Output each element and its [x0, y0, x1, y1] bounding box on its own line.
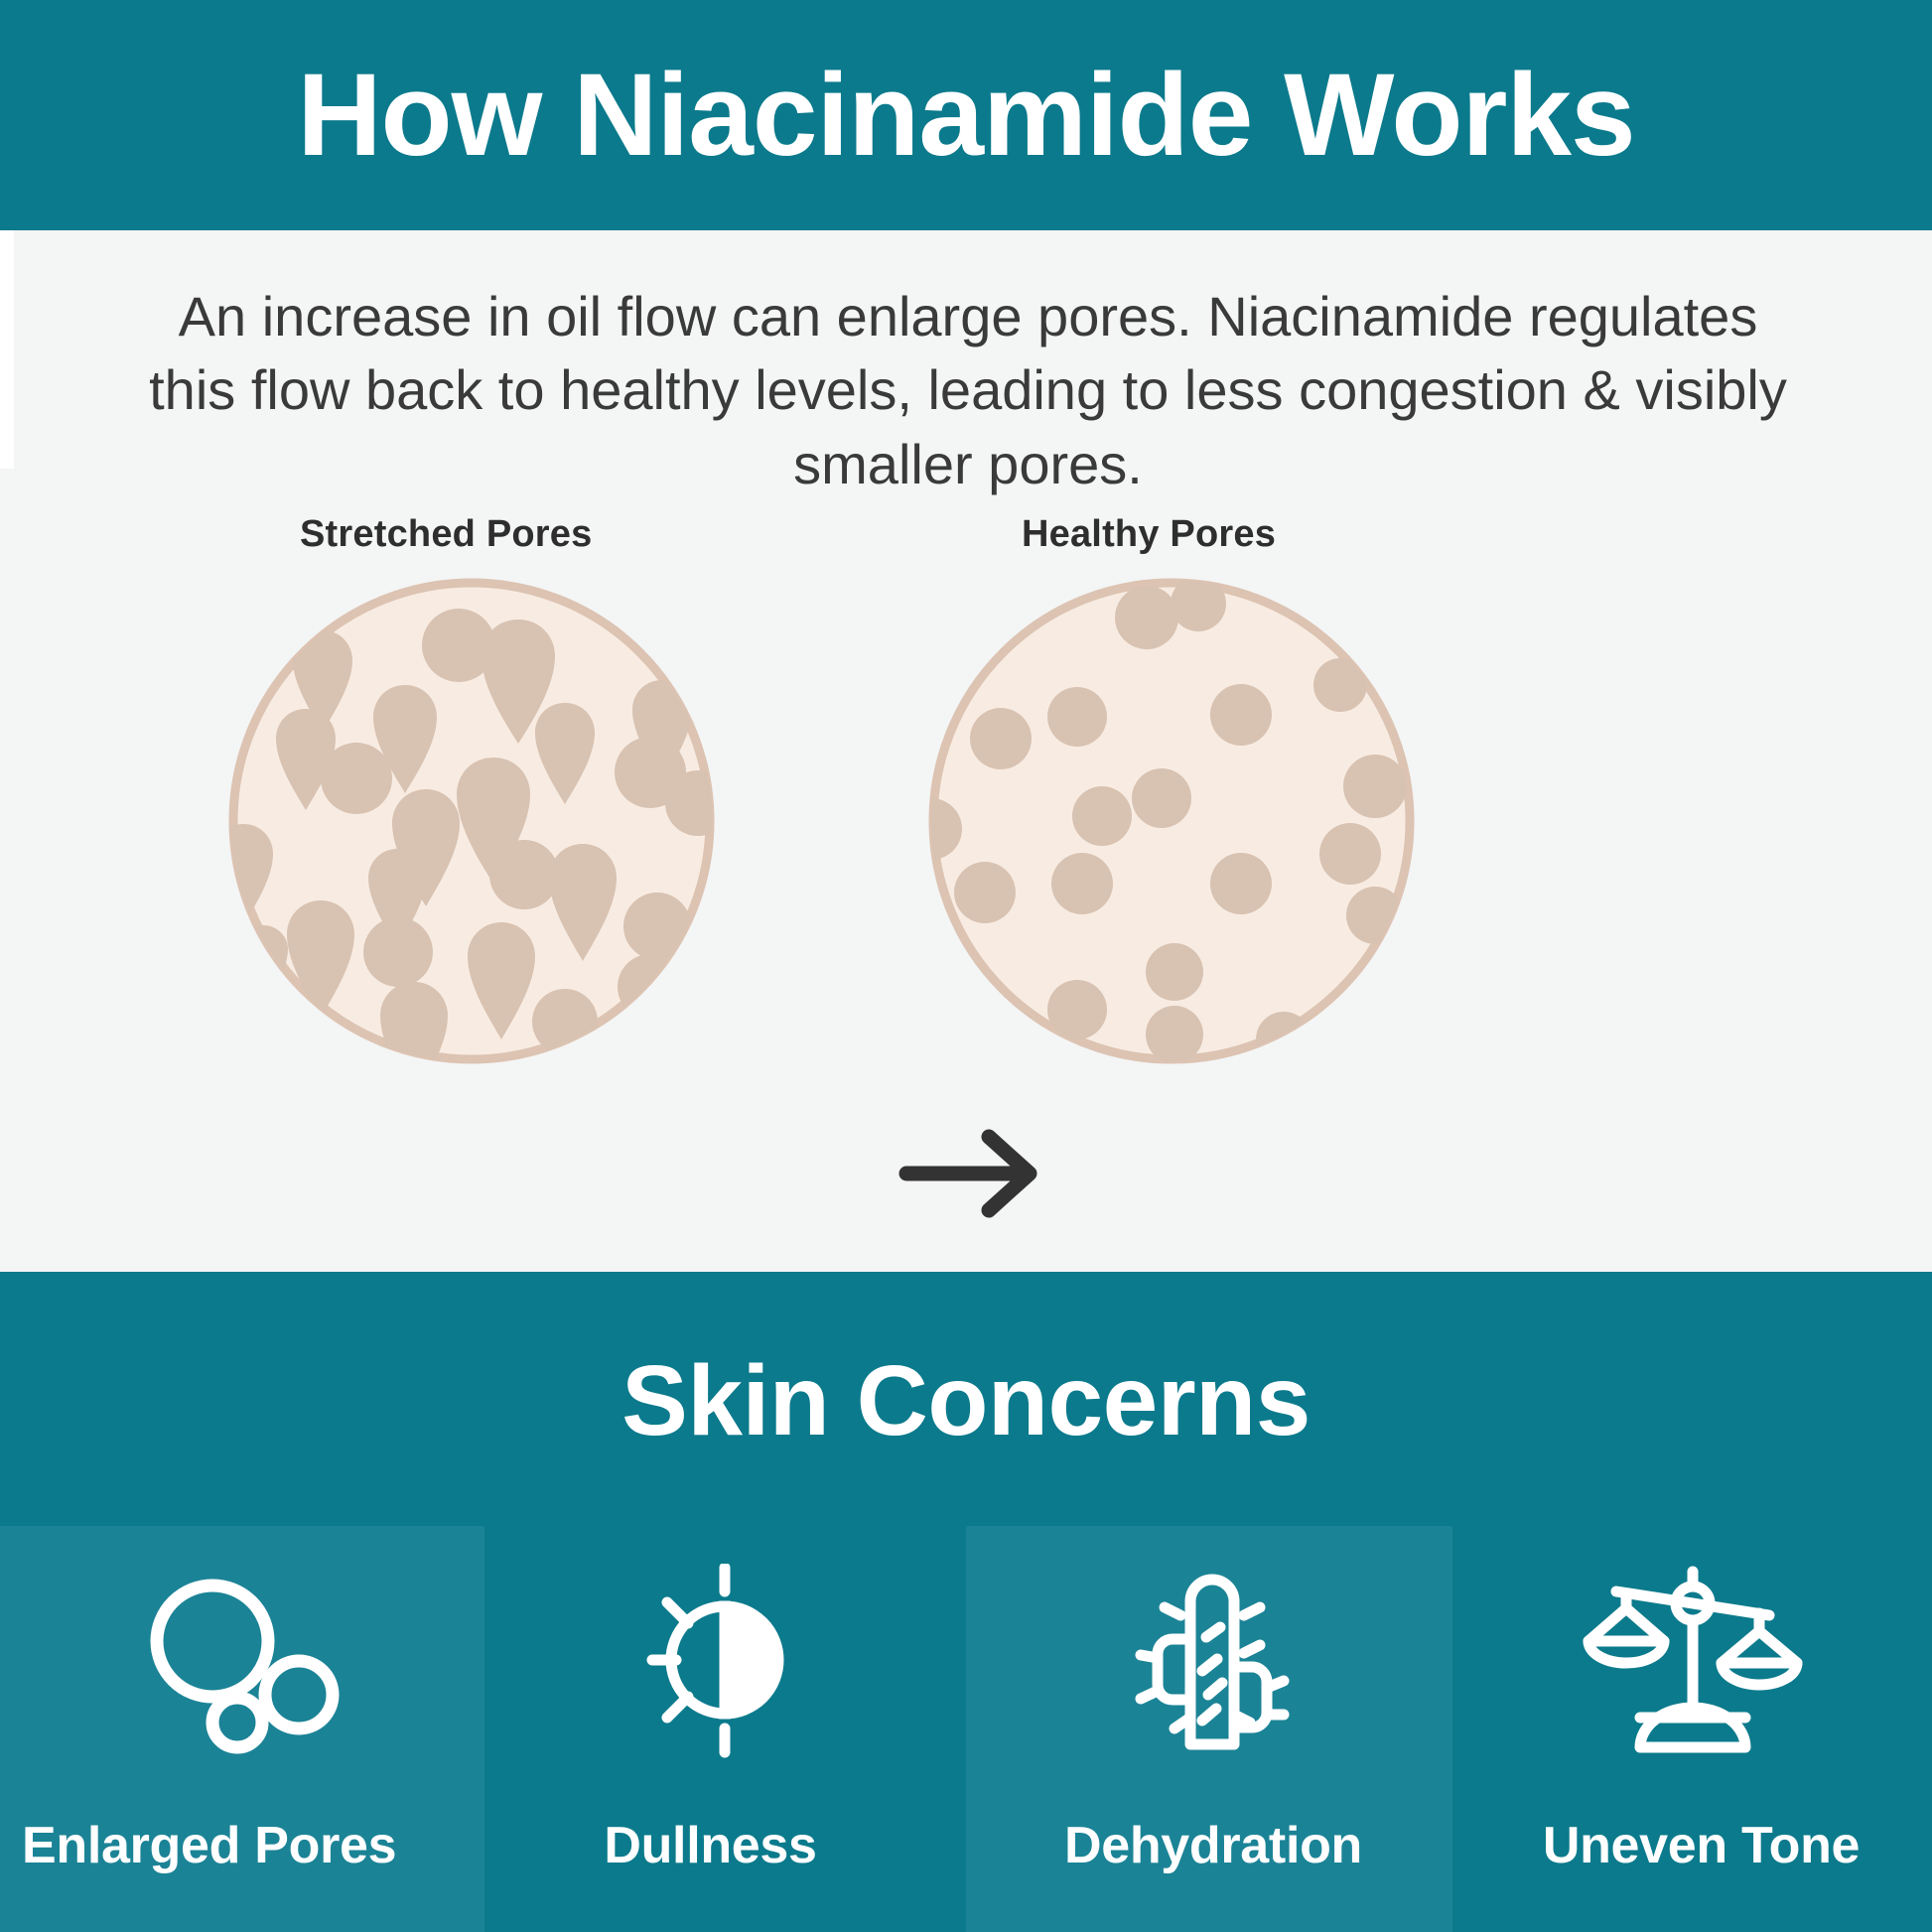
healthy-pores-svg: [923, 573, 1420, 1069]
explanation-section: An increase in oil flow can enlarge pore…: [0, 230, 1932, 1272]
pores-bubbles-icon: [0, 1564, 484, 1772]
page-header: How Niacinamide Works: [0, 0, 1932, 230]
concern-tile-dehydration[interactable]: Dehydration: [966, 1526, 1452, 1932]
concern-label-uneven-tone: Uneven Tone: [1452, 1816, 1932, 1875]
stretched-pores-svg: [223, 573, 720, 1069]
left-white-accent-strip: [0, 230, 14, 469]
concern-label-dullness: Dullness: [484, 1816, 966, 1875]
intro-paragraph: An increase in oil flow can enlarge pore…: [139, 280, 1797, 501]
brightness-half-sun-icon: [484, 1564, 966, 1777]
stretched-pores-label: Stretched Pores: [300, 513, 592, 556]
stretched-pores-illustration: [223, 573, 720, 1074]
concern-tile-dullness[interactable]: Dullness: [484, 1526, 966, 1932]
concern-label-dehydration: Dehydration: [966, 1816, 1452, 1875]
skin-concerns-title: Skin Concerns: [0, 1351, 1932, 1450]
page-title: How Niacinamide Works: [297, 57, 1634, 174]
skin-concerns-section: Skin Concerns Enlarged Pores: [0, 1272, 1932, 1932]
arrow-right-icon: [897, 1114, 1055, 1233]
concern-tile-enlarged-pores[interactable]: Enlarged Pores: [0, 1526, 484, 1932]
cactus-icon: [966, 1564, 1452, 1777]
concern-tile-uneven-tone[interactable]: Uneven Tone: [1452, 1526, 1932, 1932]
healthy-pores-illustration: [923, 573, 1420, 1074]
concern-label-enlarged-pores: Enlarged Pores: [0, 1816, 484, 1875]
healthy-pores-label: Healthy Pores: [1022, 513, 1276, 556]
balance-scales-icon: [1452, 1564, 1932, 1777]
